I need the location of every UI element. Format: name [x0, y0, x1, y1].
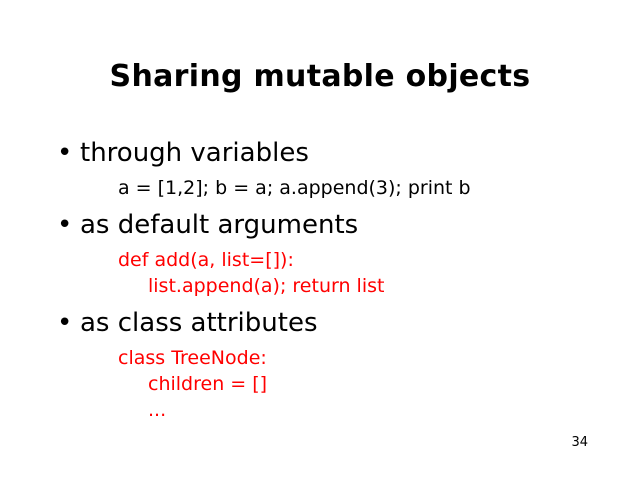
- bullet-label: as default arguments: [80, 210, 358, 241]
- page-title: Sharing mutable objects: [0, 62, 640, 92]
- code-line: children = []: [0, 371, 640, 397]
- bullet-item-class-attributes: • as class attributes: [0, 308, 640, 339]
- bullet-label: as class attributes: [80, 308, 318, 339]
- slide-canvas: Sharing mutable objects • through variab…: [0, 0, 640, 480]
- spacer: [0, 299, 640, 308]
- code-line: a = [1,2]; b = a; a.append(3); print b: [0, 175, 640, 201]
- slide-body: • through variables a = [1,2]; b = a; a.…: [0, 138, 640, 423]
- bullet-item-default-arguments: • as default arguments: [0, 210, 640, 241]
- code-line: class TreeNode:: [0, 345, 640, 371]
- page-number: 34: [571, 436, 588, 449]
- bullet-item-through-variables: • through variables: [0, 138, 640, 169]
- bullet-group-class-attributes: • as class attributes class TreeNode: ch…: [0, 308, 640, 423]
- bullet-dot-icon: •: [57, 138, 77, 169]
- code-line-ellipsis: ...: [0, 397, 640, 423]
- spacer: [0, 201, 640, 210]
- bullet-label: through variables: [80, 138, 309, 169]
- bullet-group-through-variables: • through variables a = [1,2]; b = a; a.…: [0, 138, 640, 201]
- code-line: def add(a, list=[]):: [0, 247, 640, 273]
- bullet-dot-icon: •: [57, 308, 77, 339]
- code-line: list.append(a); return list: [0, 273, 640, 299]
- bullet-dot-icon: •: [57, 210, 77, 241]
- bullet-group-default-arguments: • as default arguments def add(a, list=[…: [0, 210, 640, 299]
